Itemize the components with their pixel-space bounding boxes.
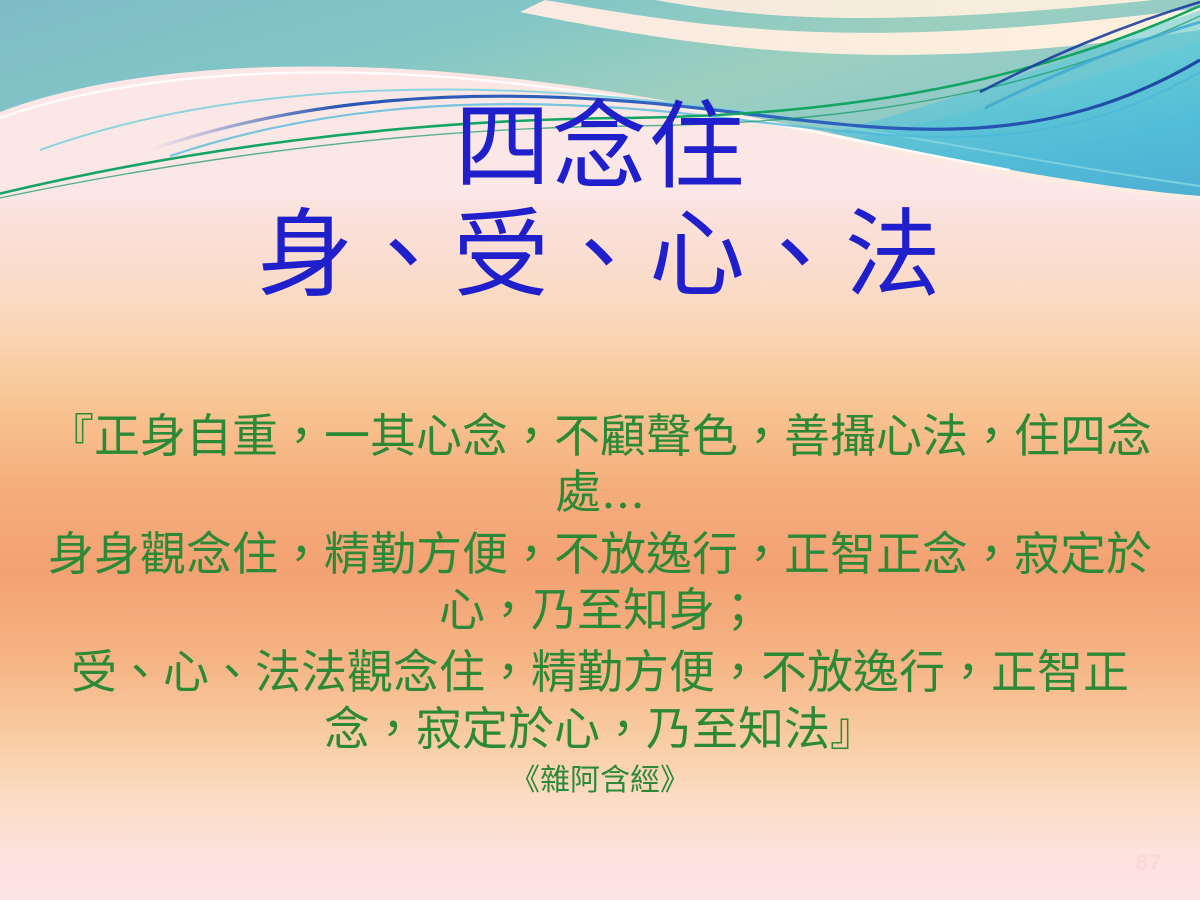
quote-paragraph-1: 『正身自重，一其心念，不顧聲色，善攝心法，住四念處... bbox=[40, 408, 1160, 520]
presentation-slide: 四念住 身、受、心、法 『正身自重，一其心念，不顧聲色，善攝心法，住四念處...… bbox=[0, 0, 1200, 900]
page-number: 87 bbox=[1136, 850, 1162, 876]
slide-title: 四念住 身、受、心、法 bbox=[0, 96, 1200, 307]
quote-paragraph-2: 身身觀念住，精勤方便，不放逸行，正智正念，寂定於心，乃至知身； bbox=[40, 526, 1160, 638]
quote-citation: 《雜阿含經》 bbox=[40, 763, 1160, 800]
quote-paragraph-3: 受、心、法法觀念住，精勤方便，不放逸行，正智正念，寂定於心，乃至知法』 bbox=[40, 644, 1160, 756]
title-line-secondary: 身、受、心、法 bbox=[0, 204, 1200, 308]
title-line-primary: 四念住 bbox=[0, 96, 1200, 200]
sutra-quote-block: 『正身自重，一其心念，不顧聲色，善攝心法，住四念處... 身身觀念住，精勤方便，… bbox=[40, 408, 1160, 799]
